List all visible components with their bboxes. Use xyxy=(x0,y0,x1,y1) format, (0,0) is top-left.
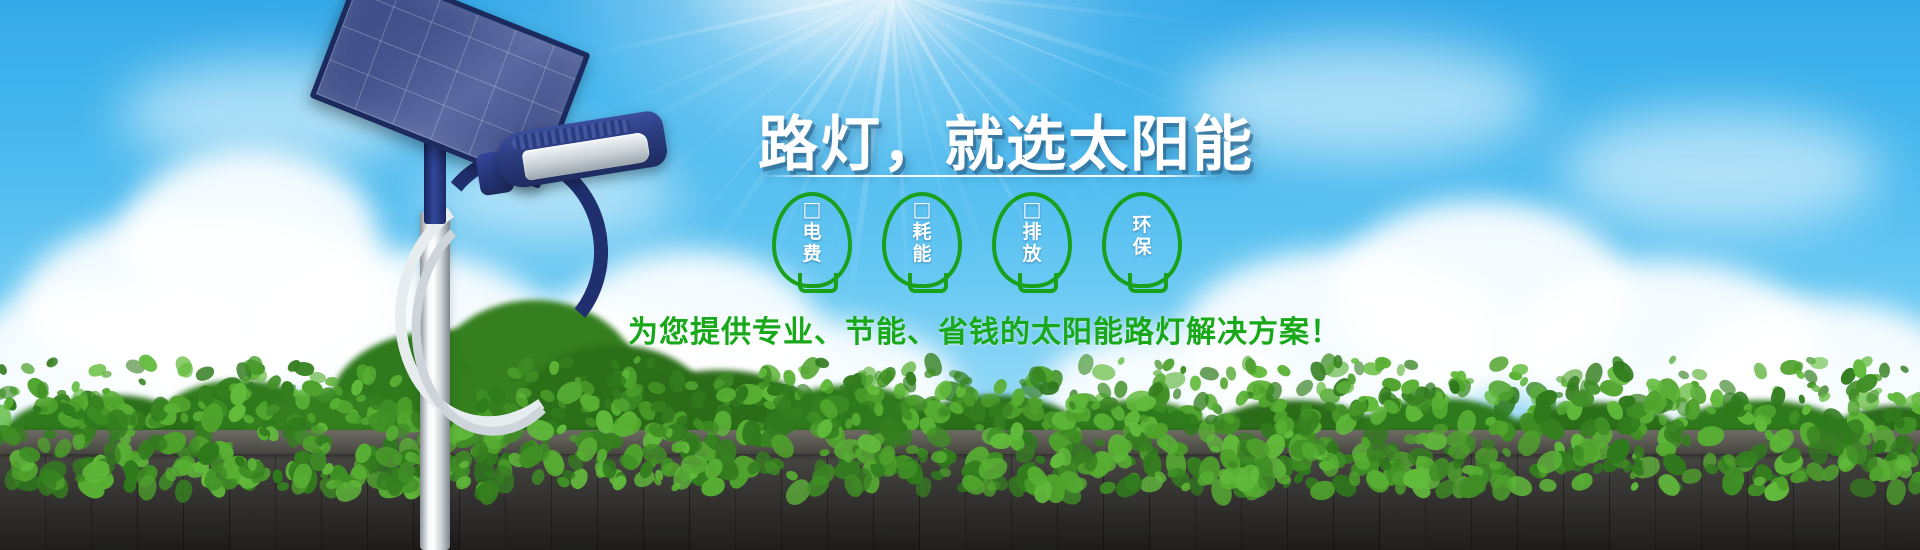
feature-badge-label: □ 排 放 xyxy=(992,198,1072,265)
feature-badge: □ 电 费 xyxy=(772,192,852,288)
leaf xyxy=(1810,357,1829,371)
feature-badge-label: □ 耗 能 xyxy=(882,198,962,265)
feature-badge: □ 排 放 xyxy=(992,192,1072,288)
leaf xyxy=(881,417,899,441)
feature-badge-label: 环 保 xyxy=(1102,214,1182,258)
leaf xyxy=(1433,424,1448,435)
leaf xyxy=(1677,369,1691,382)
leaf xyxy=(19,361,36,377)
feature-badge-list: □ 电 费 □ 耗 能 □ 排 放 xyxy=(772,192,1222,288)
leaf xyxy=(906,445,918,454)
badge-char-1: 耗 xyxy=(882,221,962,243)
badge-char-2: 保 xyxy=(1102,236,1182,258)
leaf xyxy=(1488,354,1511,373)
feature-badge-label: □ 电 费 xyxy=(772,198,852,265)
feature-badge: □ 耗 能 xyxy=(882,192,962,288)
leaf xyxy=(1573,445,1584,460)
badge-zero-glyph: □ xyxy=(772,198,852,221)
leaf xyxy=(277,482,289,491)
leaf xyxy=(1403,358,1420,372)
leaf xyxy=(1873,388,1881,394)
leaf xyxy=(1697,426,1724,446)
banner-content: 路灯，就选太阳能 □ 电 费 □ 耗 能 xyxy=(610,82,1250,412)
badge-char-1: 排 xyxy=(992,221,1072,243)
banner-tagline: 为您提供专业、节能、省钱的太阳能路灯解决方案！ xyxy=(628,307,1341,351)
leaf xyxy=(1858,355,1875,370)
divider xyxy=(762,175,1218,177)
leaf xyxy=(1634,444,1645,458)
badge-char-1: 电 xyxy=(772,221,852,243)
leaf xyxy=(1682,434,1692,446)
leaf xyxy=(1787,409,1802,426)
leaf xyxy=(0,364,7,376)
leaf xyxy=(1293,377,1316,399)
leaf xyxy=(1447,442,1470,460)
leaf xyxy=(194,365,215,383)
badge-char-1: 环 xyxy=(1102,214,1182,236)
leaf xyxy=(1754,404,1777,421)
page-title: 路灯，就选太阳能 xyxy=(758,96,1254,183)
leaf xyxy=(1511,364,1528,376)
badge-char-2: 能 xyxy=(882,243,962,265)
leaf xyxy=(1798,394,1805,404)
leaf xyxy=(1275,362,1292,379)
leaf xyxy=(44,356,58,368)
leaf xyxy=(1667,355,1677,366)
hero-banner: 路灯，就选太阳能 □ 电 费 □ 耗 能 xyxy=(0,0,1920,550)
leaf xyxy=(248,381,256,392)
leaf xyxy=(1899,364,1909,374)
leaf xyxy=(273,469,284,483)
badge-char-2: 放 xyxy=(992,243,1072,265)
leaf xyxy=(57,389,66,396)
leaf xyxy=(174,354,195,380)
sun-ray xyxy=(892,0,1200,86)
leaf xyxy=(1794,368,1806,381)
leaf xyxy=(137,377,147,387)
leaf xyxy=(1735,451,1759,469)
leaf xyxy=(180,413,188,424)
badge-zero-glyph: □ xyxy=(882,198,962,221)
cloud-wisp xyxy=(1560,110,1880,230)
leaf xyxy=(1338,403,1347,415)
leaf xyxy=(989,432,1012,450)
leaf xyxy=(1753,362,1769,381)
leaf xyxy=(247,457,258,471)
badge-char-2: 费 xyxy=(772,243,852,265)
feature-badge: 环 保 xyxy=(1102,192,1182,288)
sun-ray xyxy=(892,0,1211,25)
leaf xyxy=(1093,436,1107,449)
leaf xyxy=(1904,393,1920,409)
leaf xyxy=(819,449,829,457)
leaf xyxy=(1690,366,1708,382)
leaf xyxy=(1800,403,1813,416)
leaf xyxy=(1502,447,1513,459)
badge-zero-glyph: □ xyxy=(992,198,1072,221)
leaf xyxy=(1878,362,1891,379)
